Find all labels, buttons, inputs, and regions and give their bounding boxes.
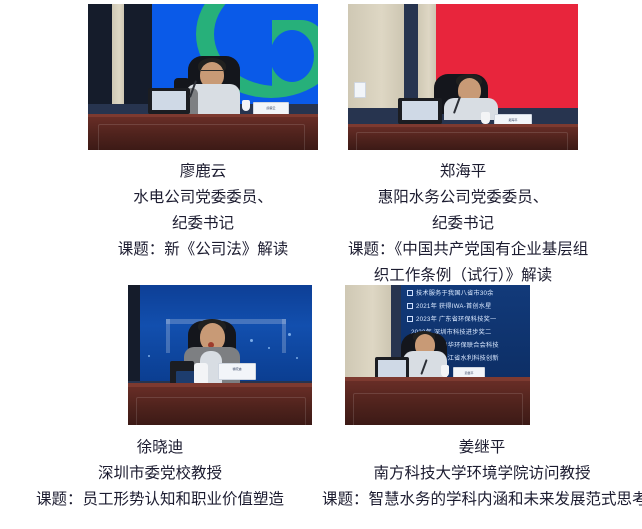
photo-zheng-haiping: 郑海平 <box>348 4 578 150</box>
caption-name: 徐晓迪 <box>0 434 320 460</box>
caption-jiang-jiping: 姜继平 南方科技大学环境学院访问教授 课题：智慧水务的学科内涵和未来发展范式思考 <box>322 434 642 512</box>
slide-bullet-3: 2023年 广东省环保科技奖一 <box>416 314 496 323</box>
nameplate-text: 姜继平 <box>454 371 484 375</box>
photo-collage-page: 廖鹿云 郑海平 <box>0 0 642 529</box>
caption-topic: 课题：员工形势认知和职业价值塑造 <box>0 486 320 512</box>
caption-topic-1: 课题：《中国共产党国有企业基层组 <box>348 236 578 262</box>
caption-zheng-haiping: 郑海平 惠阳水务公司党委委员、 纪委书记 课题：《中国共产党国有企业基层组 织工… <box>348 158 578 288</box>
slide-bullet-1: 技术服务于我国八省市30余 <box>416 288 494 297</box>
nameplate-text: 徐晓迪 <box>219 367 255 371</box>
bullet-marker-icon <box>407 290 413 296</box>
photo-xu-xiaodi: 徐晓迪 <box>128 285 312 425</box>
caption-title-1: 惠阳水务公司党委委员、 <box>348 184 578 210</box>
caption-xu-xiaodi: 徐晓迪 深圳市委党校教授 课题：员工形势认知和职业价值塑造 <box>0 434 320 512</box>
slide-bullet-2: 2021年 获得IWA-首创水星 <box>416 301 492 310</box>
nameplate-text: 郑海平 <box>495 118 531 122</box>
caption-title: 南方科技大学环境学院访问教授 <box>322 460 642 486</box>
caption-topic: 课题：智慧水务的学科内涵和未来发展范式思考 <box>322 486 642 512</box>
caption-name: 廖鹿云 <box>88 158 318 184</box>
caption-liao-luyun: 廖鹿云 水电公司党委委员、 纪委书记 课题：新《公司法》解读 <box>88 158 318 262</box>
caption-title-2: 纪委书记 <box>88 210 318 236</box>
caption-title-2: 纪委书记 <box>348 210 578 236</box>
caption-topic-2: 织工作条例（试行）》解读 <box>348 262 578 288</box>
nameplate-text: 廖鹿云 <box>254 106 288 110</box>
caption-title-1: 水电公司党委委员、 <box>88 184 318 210</box>
bullet-marker-icon <box>407 303 413 309</box>
caption-title: 深圳市委党校教授 <box>0 460 320 486</box>
photo-liao-luyun: 廖鹿云 <box>88 4 318 150</box>
photo-jiang-jiping: 技术服务于我国八省市30余 2021年 获得IWA-首创水星 2023年 广东省… <box>345 285 530 425</box>
caption-topic: 课题：新《公司法》解读 <box>88 236 318 262</box>
caption-name: 郑海平 <box>348 158 578 184</box>
caption-name: 姜继平 <box>322 434 642 460</box>
bullet-marker-icon <box>407 316 413 322</box>
